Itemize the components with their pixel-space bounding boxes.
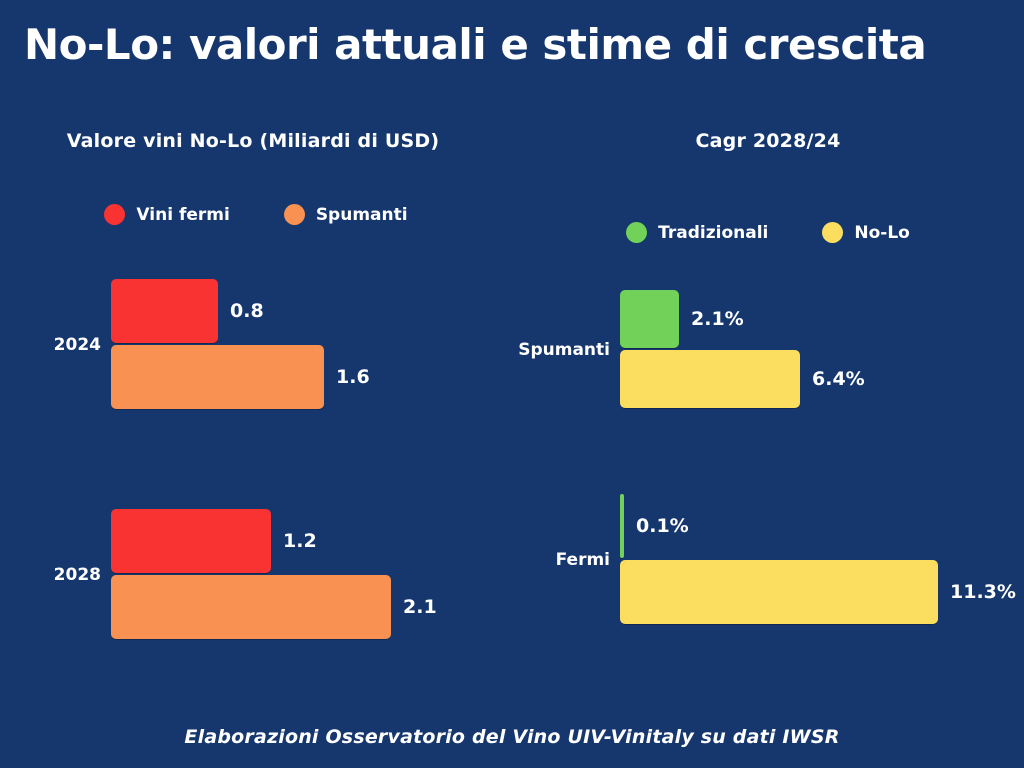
legend-item-vini-fermi[interactable]: Vini fermi	[104, 204, 229, 225]
page-title: No-Lo: valori attuali e stime di crescit…	[24, 22, 1004, 68]
bar-vini-fermi-2024[interactable]	[111, 279, 218, 343]
bar-spumanti-2024[interactable]	[111, 345, 324, 409]
bar-tradizionali-spumanti[interactable]	[620, 290, 679, 348]
legend-label: No-Lo	[854, 223, 909, 243]
legend-item-tradizionali[interactable]: Tradizionali	[626, 222, 768, 243]
group-label-2024: 2024	[54, 335, 101, 355]
bar-value-label: 2.1	[403, 596, 437, 618]
legend-dot-icon	[284, 204, 305, 225]
group-label-2028: 2028	[54, 565, 101, 585]
bar-value-label: 1.2	[283, 530, 317, 552]
bar-value-label: 0.1%	[636, 515, 689, 537]
legend-dot-icon	[626, 222, 647, 243]
slide-canvas: No-Lo: valori attuali e stime di crescit…	[0, 0, 1024, 768]
legend-right: Tradizionali No-Lo	[512, 222, 1024, 243]
legend-item-no-lo[interactable]: No-Lo	[822, 222, 909, 243]
bar-spumanti-2028[interactable]	[111, 575, 391, 639]
panel-cagr: Cagr 2028/24 Tradizionali No-Lo	[512, 130, 1024, 243]
panel-left-title: Valore vini No-Lo (Miliardi di USD)	[0, 130, 512, 152]
panel-right-title: Cagr 2028/24	[512, 130, 1024, 152]
legend-label: Vini fermi	[136, 205, 229, 225]
bar-value-label: 2.1%	[691, 308, 744, 330]
legend-label: Tradizionali	[658, 223, 768, 243]
panel-valore-vini: Valore vini No-Lo (Miliardi di USD) Vini…	[0, 130, 512, 225]
source-note: Elaborazioni Osservatorio del Vino UIV-V…	[0, 726, 1024, 748]
legend-left: Vini fermi Spumanti	[0, 204, 512, 225]
bar-no-lo-fermi[interactable]	[620, 560, 938, 624]
bars-plot-surface: 20240.81.620281.22.1Spumanti2.1%6.4%Ferm…	[0, 0, 1024, 768]
bar-value-label: 6.4%	[812, 368, 865, 390]
bar-no-lo-spumanti[interactable]	[620, 350, 800, 408]
bar-value-label: 1.6	[336, 366, 370, 388]
bar-value-label: 0.8	[230, 300, 264, 322]
legend-item-spumanti[interactable]: Spumanti	[284, 204, 408, 225]
group-label-fermi: Fermi	[556, 550, 610, 570]
bar-vini-fermi-2028[interactable]	[111, 509, 271, 573]
legend-dot-icon	[822, 222, 843, 243]
bar-tradizionali-fermi[interactable]	[620, 494, 624, 558]
legend-dot-icon	[104, 204, 125, 225]
group-label-spumanti: Spumanti	[518, 340, 610, 360]
legend-label: Spumanti	[316, 205, 408, 225]
bar-value-label: 11.3%	[950, 581, 1016, 603]
